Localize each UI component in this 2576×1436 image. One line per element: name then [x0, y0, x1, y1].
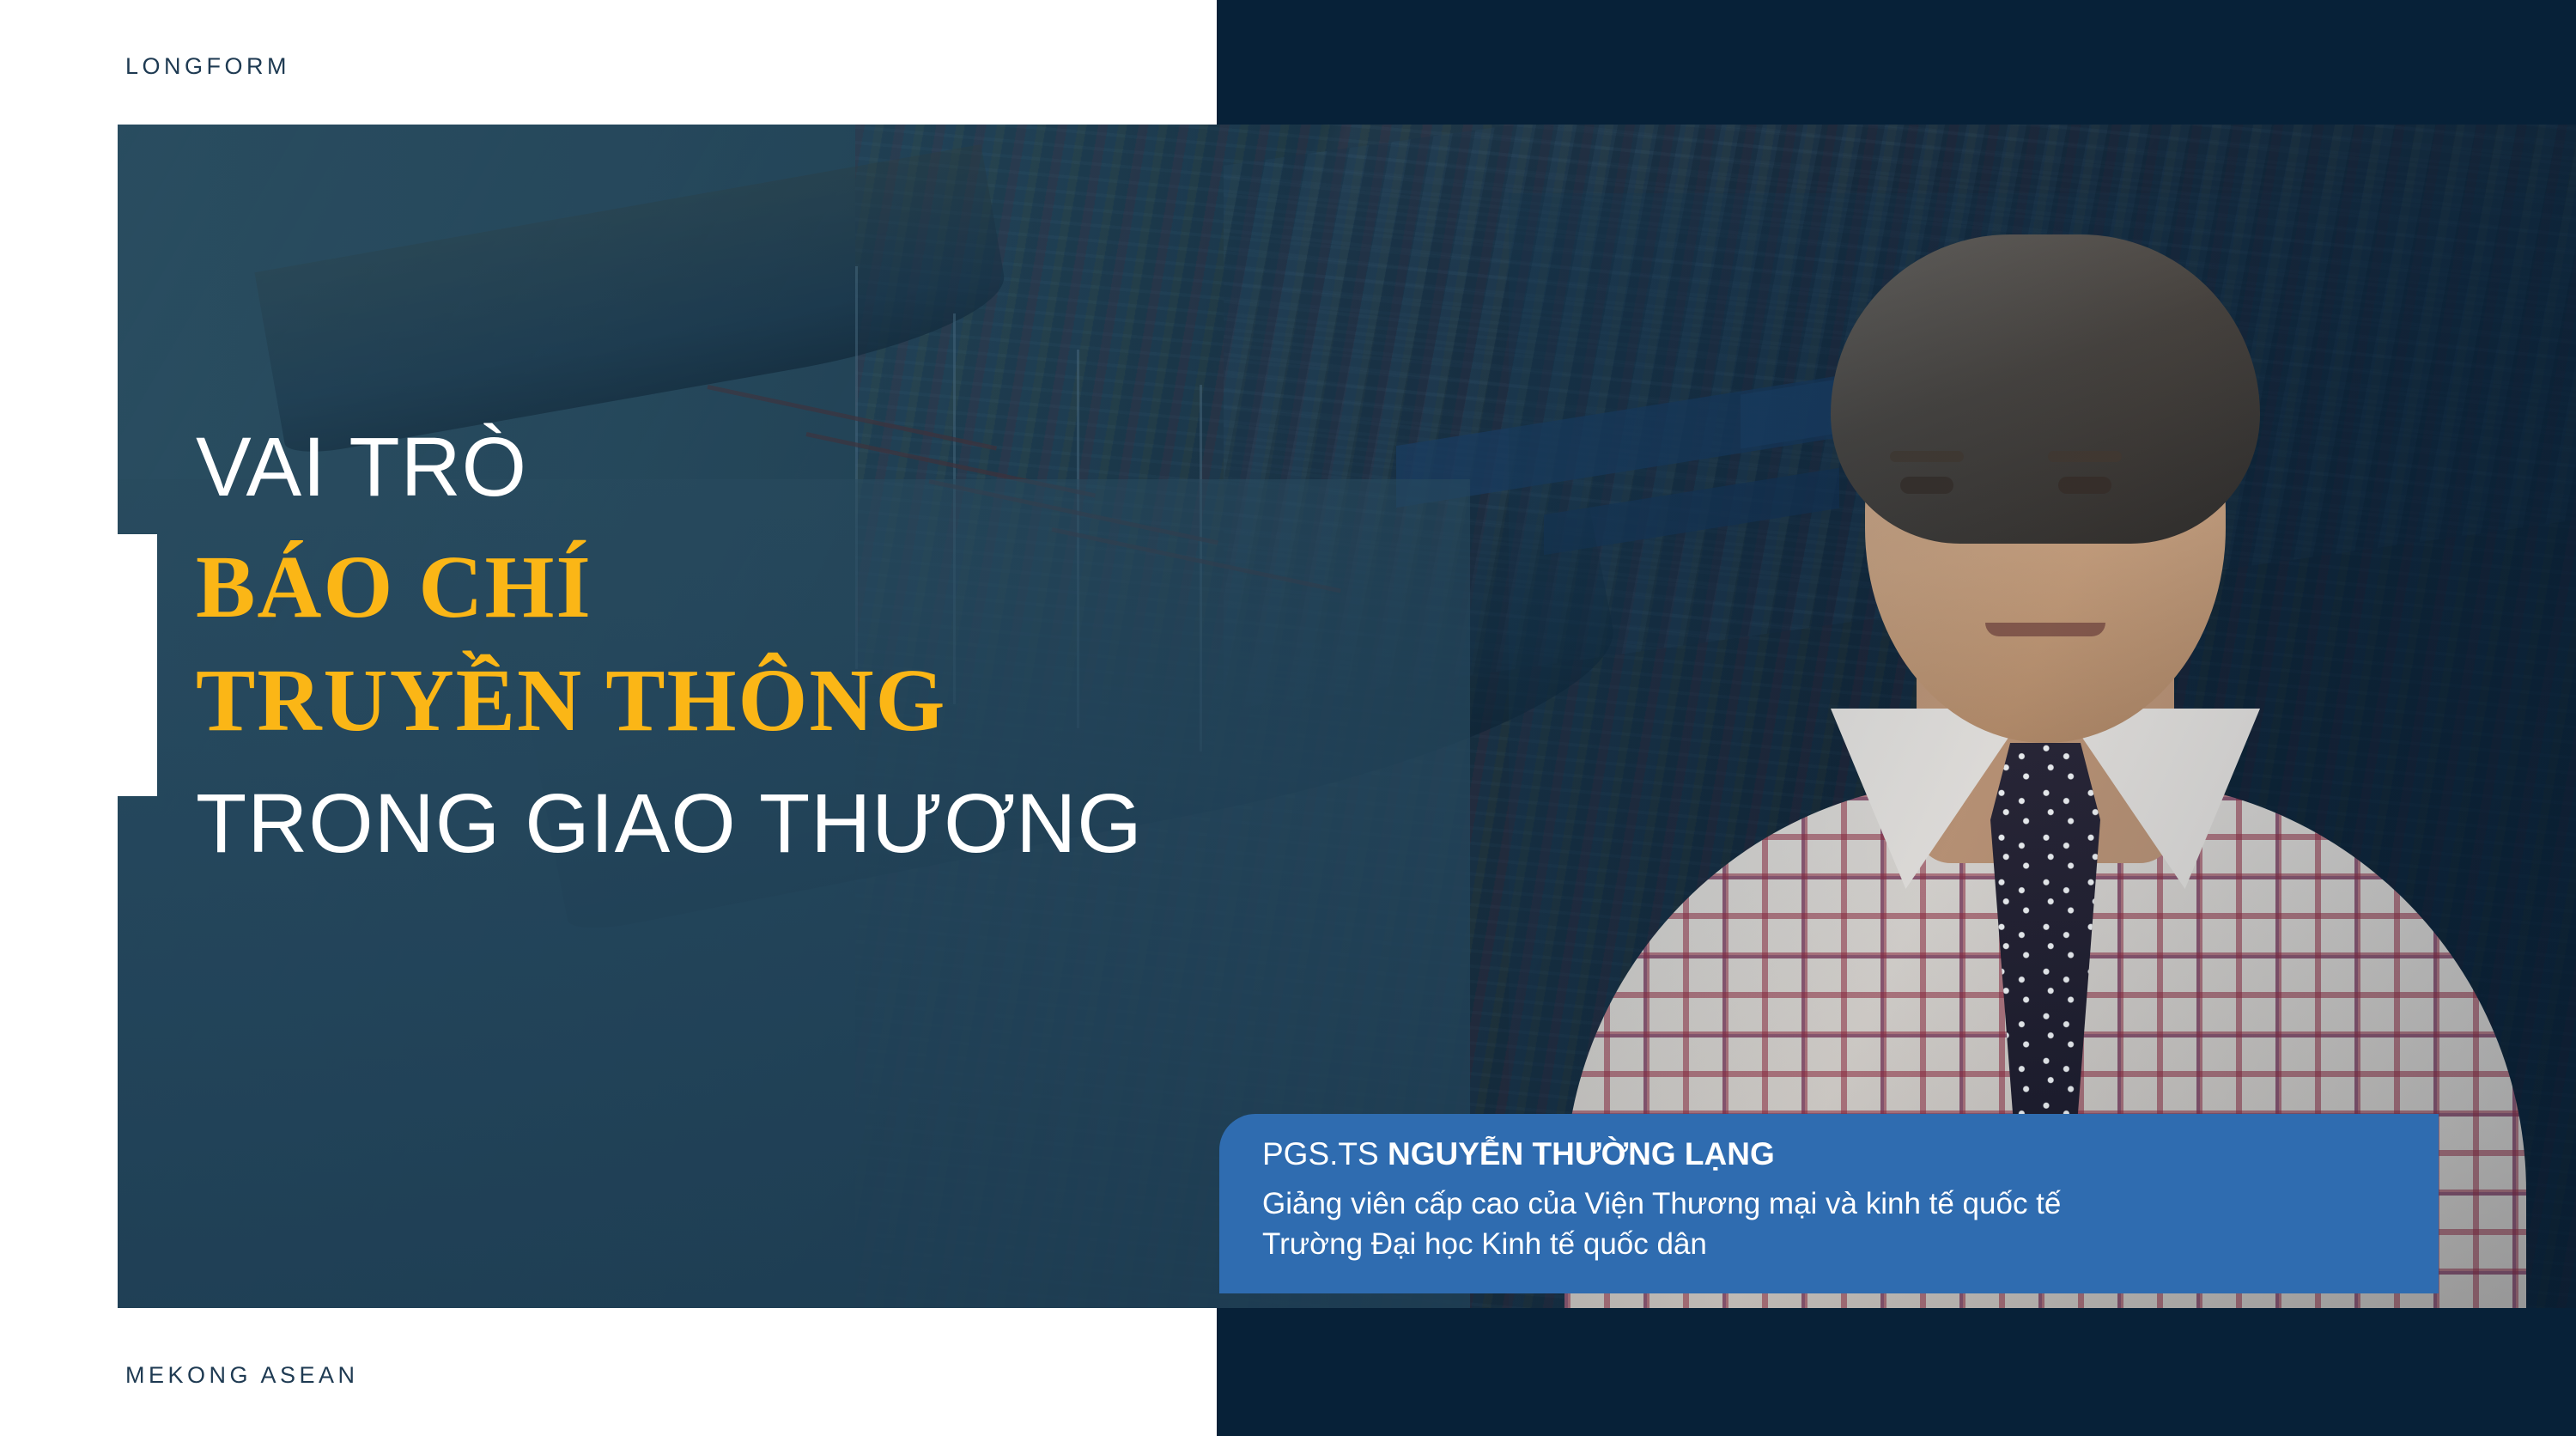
- speaker-name-line: PGS.TS NGUYỄN THƯỜNG LẠNG: [1262, 1135, 2439, 1174]
- headline-block: VAI TRÒ BÁO CHÍ TRUYỀN THÔNG TRONG GIAO …: [196, 425, 1269, 865]
- speaker-name: NGUYỄN THƯỜNG LẠNG: [1388, 1136, 1775, 1171]
- speaker-title-prefix: PGS.TS: [1262, 1136, 1388, 1171]
- headline-line-3: TRUYỀN THÔNG: [196, 656, 1269, 745]
- speaker-role-line-2: Trường Đại học Kinh tế quốc dân: [1262, 1225, 2439, 1265]
- speaker-role-line-1: Giảng viên cấp cao của Viện Thương mại v…: [1262, 1184, 2439, 1225]
- headline-accent-bar: [118, 534, 157, 796]
- brand-label: MEKONG ASEAN: [125, 1362, 359, 1389]
- kicker-label: LONGFORM: [125, 53, 290, 80]
- headline-line-1: VAI TRÒ: [196, 425, 1269, 508]
- headline-line-2: BÁO CHÍ: [196, 543, 1269, 632]
- headline-line-4: TRONG GIAO THƯƠNG: [196, 782, 1269, 865]
- speaker-caption-card: PGS.TS NGUYỄN THƯỜNG LẠNG Giảng viên cấp…: [1219, 1114, 2439, 1293]
